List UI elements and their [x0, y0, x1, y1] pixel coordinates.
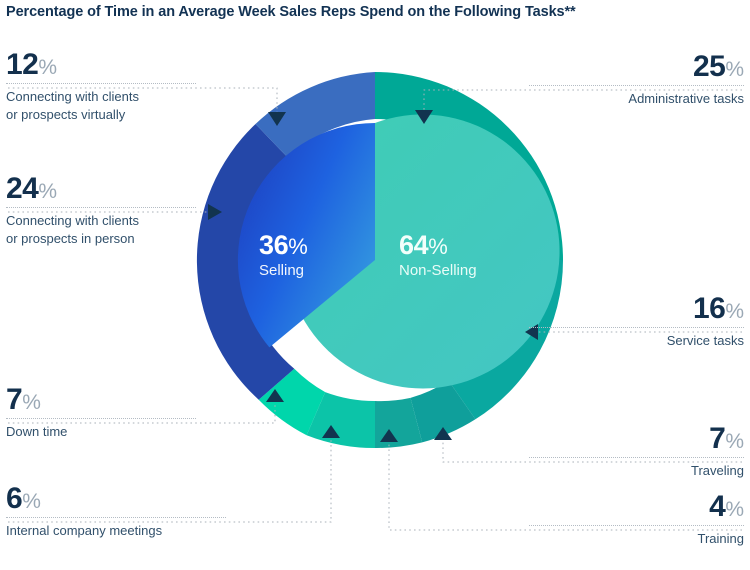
callout-in-person-value: 24% [6, 174, 196, 204]
center-selling-label: Selling [259, 262, 307, 279]
center-label-selling: 36% Selling [259, 232, 307, 279]
callout-virtually: 12% Connecting with clients or prospects… [6, 50, 196, 123]
callout-in-person-desc: Connecting with clients or prospects in … [6, 208, 196, 247]
callout-training-desc: Training [529, 526, 744, 548]
callout-administrative: 25% Administrative tasks [529, 52, 744, 108]
callout-service-value: 16% [529, 294, 744, 324]
callout-virtually-value: 12% [6, 50, 196, 80]
callout-traveling-desc: Traveling [529, 458, 744, 480]
callout-traveling: 7% Traveling [529, 424, 744, 480]
callout-virtually-desc: Connecting with clients or prospects vir… [6, 84, 196, 123]
callout-training: 4% Training [529, 492, 744, 548]
callout-in-person: 24% Connecting with clients or prospects… [6, 174, 196, 247]
callout-internal-meetings-value: 6% [6, 484, 226, 514]
center-non-selling-value: 64% [399, 232, 477, 259]
callout-training-value: 4% [529, 492, 744, 522]
callout-internal-meetings-desc: Internal company meetings [6, 518, 226, 540]
donut-chart: 36% Selling 64% Non-Selling 12% Connecti… [0, 0, 750, 570]
center-selling-value: 36% [259, 232, 307, 259]
callout-down-time-value: 7% [6, 385, 196, 415]
callout-down-time-desc: Down time [6, 419, 196, 441]
callout-internal-meetings: 6% Internal company meetings [6, 484, 226, 540]
callout-administrative-desc: Administrative tasks [529, 86, 744, 108]
callout-service-desc: Service tasks [529, 328, 744, 350]
callout-administrative-value: 25% [529, 52, 744, 82]
callout-service: 16% Service tasks [529, 294, 744, 350]
center-label-non-selling: 64% Non-Selling [399, 232, 477, 279]
center-non-selling-label: Non-Selling [399, 262, 477, 279]
callout-down-time: 7% Down time [6, 385, 196, 441]
callout-traveling-value: 7% [529, 424, 744, 454]
